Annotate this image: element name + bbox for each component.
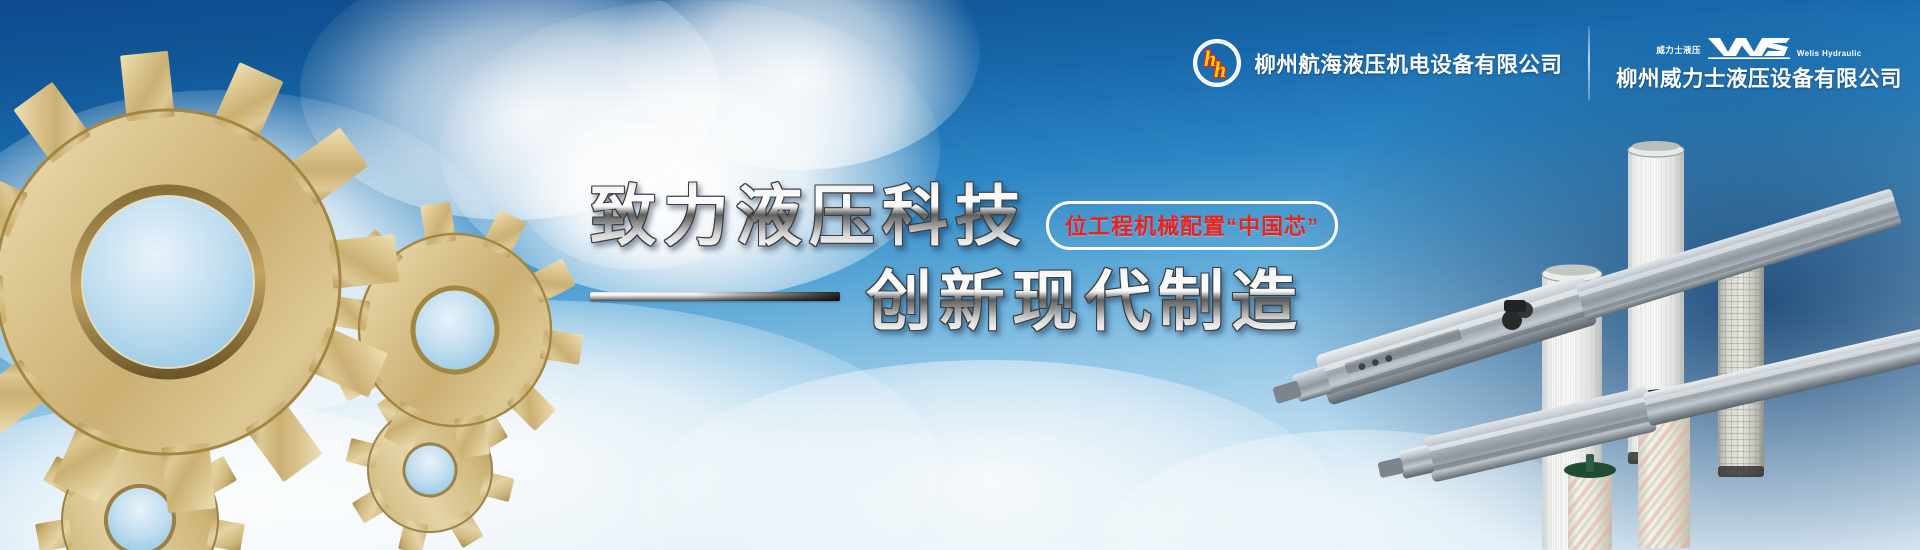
header-logo-bar: h h 柳州航海液压机电设备有限公司 威力士液压 bbox=[1193, 26, 1902, 100]
status-badge: 位工程机械配置“中国芯” bbox=[1046, 201, 1338, 250]
logo-secondary[interactable]: 威力士液压 Welis Hydraulic 柳州威力士液压设备有限公司 bbox=[1590, 34, 1902, 93]
hh-monogram-logo-icon: h h bbox=[1193, 39, 1241, 87]
ws-logo-mark: 威力士液压 Welis Hydraulic bbox=[1656, 34, 1861, 60]
svg-text:h: h bbox=[1214, 57, 1226, 82]
ws-brand-cn-label: 威力士液压 bbox=[1656, 44, 1701, 60]
metallic-rule bbox=[590, 292, 840, 301]
logo-primary-company-name: 柳州航海液压机电设备有限公司 bbox=[1254, 48, 1562, 79]
ws-brand-en-label: Welis Hydraulic bbox=[1797, 49, 1862, 60]
headline-line-2-row: 创新现代制造 bbox=[590, 248, 1304, 344]
headline-line-1-row: 致力液压科技 位工程机械配置“中国芯” bbox=[590, 163, 1338, 259]
logo-primary[interactable]: h h 柳州航海液压机电设备有限公司 bbox=[1193, 39, 1588, 87]
logo-secondary-company-name: 柳州威力士液压设备有限公司 bbox=[1616, 62, 1902, 93]
ws-glyph-icon bbox=[1706, 34, 1792, 60]
hero-banner: 致力液压科技 位工程机械配置“中国芯” 创新现代制造 h h 柳州航海液压机电设… bbox=[0, 0, 1920, 550]
headline-line-1: 致力液压科技 bbox=[590, 163, 1028, 259]
headline-line-2: 创新现代制造 bbox=[866, 248, 1304, 344]
